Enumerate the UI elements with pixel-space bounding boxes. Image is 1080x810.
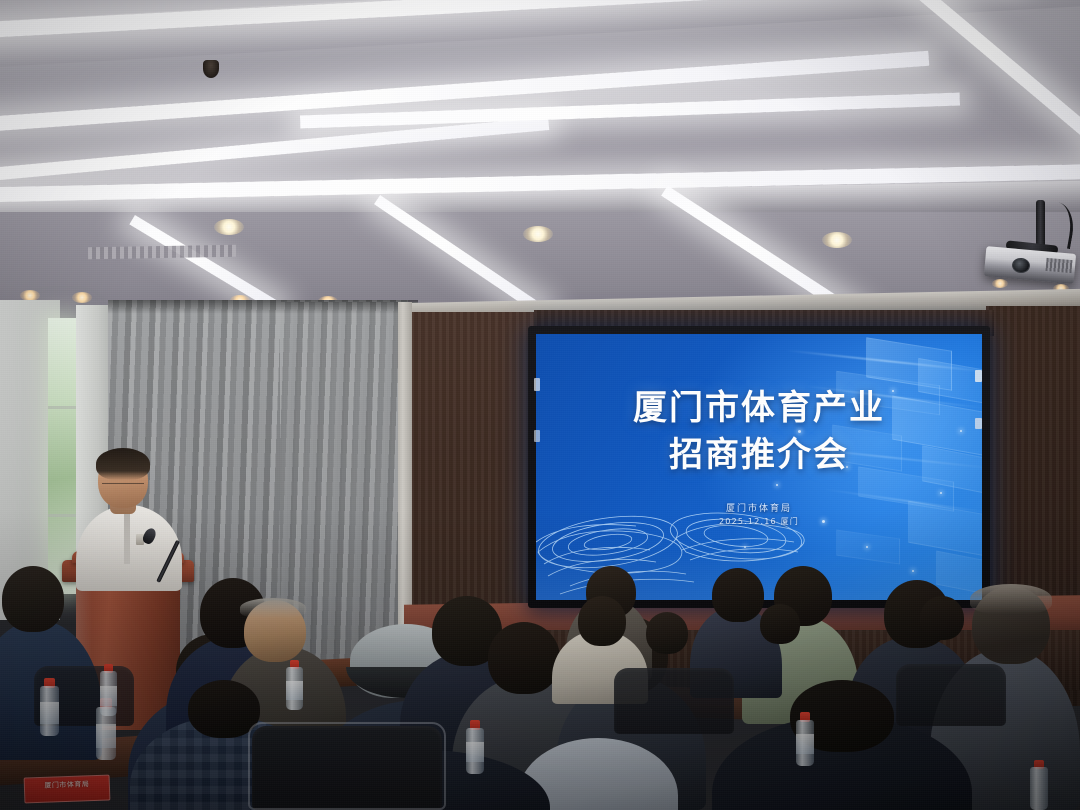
screen-sensor-led bbox=[975, 370, 982, 382]
slide-title-line1: 厦门市体育产业 bbox=[536, 388, 982, 428]
water-bottle bbox=[100, 664, 117, 716]
recessed-downlight bbox=[72, 292, 92, 303]
speaker-shirt-placket bbox=[124, 508, 130, 564]
slide-title-line2: 招商推介会 bbox=[536, 435, 982, 475]
speaker-hair bbox=[96, 448, 150, 480]
audience-hair bbox=[970, 584, 1052, 614]
water-bottle bbox=[286, 660, 303, 710]
conference-room-photo: 厦门市体育产业 招商推介会 厦门市体育局 2025.12.16 厦门 bbox=[0, 0, 1080, 810]
conference-chair bbox=[896, 664, 1006, 726]
slide-organizer: 厦门市体育局 bbox=[536, 501, 982, 514]
delegate-name-card: 厦门市体育局 bbox=[24, 775, 111, 804]
recessed-downlight bbox=[214, 219, 244, 235]
presentation-slide: 厦门市体育产业 招商推介会 厦门市体育局 2025.12.16 厦门 bbox=[536, 334, 982, 600]
water-bottle bbox=[1030, 760, 1048, 810]
speaker-glasses bbox=[102, 483, 144, 491]
recessed-downlight bbox=[523, 226, 553, 242]
linear-ceiling-light bbox=[0, 51, 929, 136]
recessed-downlight bbox=[822, 232, 852, 248]
water-bottle bbox=[466, 720, 484, 774]
screen-sensor-led bbox=[534, 430, 540, 442]
conference-chair-rim bbox=[248, 722, 446, 810]
screen-sensor-led bbox=[534, 378, 540, 391]
curtain-rail bbox=[108, 300, 418, 314]
conference-chair bbox=[614, 668, 734, 734]
audience-hair bbox=[240, 598, 306, 618]
linear-ceiling-light bbox=[906, 0, 1080, 156]
water-bottle bbox=[40, 678, 59, 736]
ceiling-sprinkler-icon bbox=[203, 60, 219, 78]
ceiling bbox=[0, 0, 1080, 330]
ceiling-air-vent bbox=[88, 245, 236, 260]
screen-sensor-led bbox=[975, 418, 982, 429]
name-card-text: 厦门市体育局 bbox=[25, 779, 109, 792]
water-bottle bbox=[796, 712, 814, 766]
slide-date-place: 2025.12.16 厦门 bbox=[536, 516, 982, 527]
